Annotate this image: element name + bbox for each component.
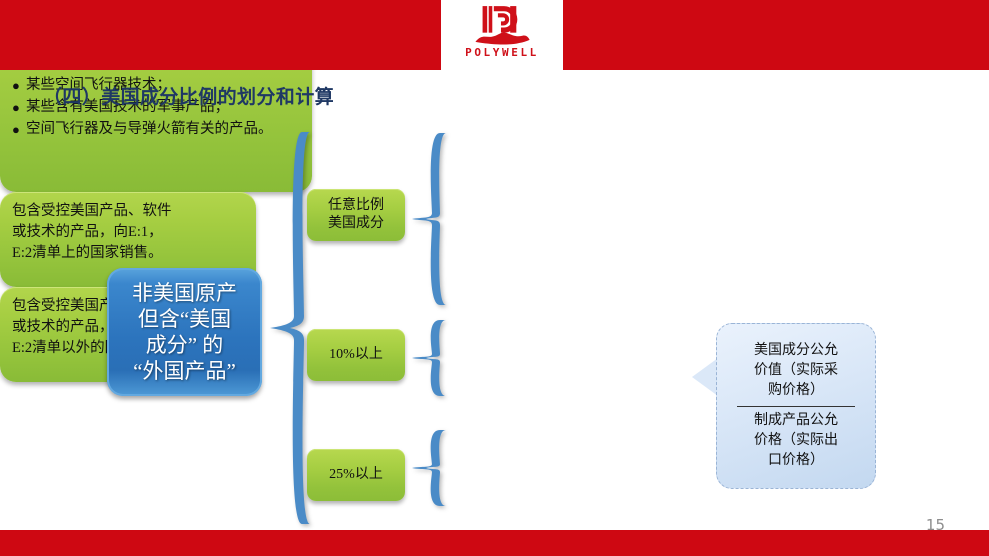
denominator-line-1: 制成产品公允 bbox=[754, 411, 838, 431]
branch-label-25-percent[interactable]: 25%以上 bbox=[307, 449, 405, 501]
bullet-text: 空间飞行器及与导弹火箭有关的产品。 bbox=[26, 119, 300, 140]
formula-callout[interactable]: 美国成分公允 价值（实际采 购价格） 制成产品公允 价格（实际出 口价格） bbox=[716, 323, 876, 489]
numerator-line-3: 购价格） bbox=[754, 381, 838, 401]
branch1-label-line-2: 美国成分 bbox=[328, 215, 384, 233]
callout-numerator: 美国成分公允 价值（实际采 购价格） bbox=[754, 341, 838, 404]
branch-label-any-ratio[interactable]: 任意比例 美国成分 bbox=[307, 189, 405, 241]
root-line-3: 成分” 的 bbox=[132, 332, 237, 358]
branch-2-brace bbox=[410, 320, 448, 396]
bullet-item: ● 空间飞行器及与导弹火箭有关的产品。 bbox=[12, 119, 300, 140]
bullet-dot-icon: ● bbox=[12, 97, 26, 118]
branch-3-brace bbox=[410, 430, 448, 506]
logo-wordmark: POLYWELL bbox=[465, 47, 539, 58]
branch-label-10-percent[interactable]: 10%以上 bbox=[307, 329, 405, 381]
root-line-1: 非美国原产 bbox=[132, 280, 237, 306]
branch2-text-line-1: 包含受控美国产品、软件 bbox=[12, 201, 244, 222]
bullet-dot-icon: ● bbox=[12, 75, 26, 96]
branch2-label-line-1: 10%以上 bbox=[329, 346, 383, 364]
polywell-logo-icon bbox=[471, 2, 533, 48]
logo-plate: POLYWELL bbox=[441, 0, 563, 70]
slide-canvas: POLYWELL （四）美国成分比例的划分和计算 非美国原产 但含“美国 成分”… bbox=[0, 0, 989, 556]
footer-red-band bbox=[0, 530, 989, 556]
page-title: （四）美国成分比例的划分和计算 bbox=[43, 82, 334, 109]
callout-pointer-icon bbox=[692, 358, 718, 396]
numerator-line-2: 价值（实际采 bbox=[754, 361, 838, 381]
branch2-text-line-2: 或技术的产品，向E:1， bbox=[12, 222, 244, 243]
numerator-line-1: 美国成分公允 bbox=[754, 341, 838, 361]
denominator-line-2: 价格（实际出 bbox=[754, 431, 838, 451]
branch2-text-line-3: E:2清单上的国家销售。 bbox=[12, 243, 244, 264]
bullet-dot-icon: ● bbox=[12, 119, 26, 140]
root-node[interactable]: 非美国原产 但含“美国 成分” 的 “外国产品” bbox=[107, 268, 262, 396]
callout-denominator: 制成产品公允 价格（实际出 口价格） bbox=[754, 411, 838, 471]
branch3-label-line-1: 25%以上 bbox=[329, 466, 383, 484]
branch-1-brace bbox=[410, 133, 448, 305]
branch1-label-line-1: 任意比例 bbox=[328, 197, 384, 215]
denominator-line-3: 口价格） bbox=[754, 451, 838, 471]
root-line-2: 但含“美国 bbox=[132, 306, 237, 332]
fraction-bar bbox=[737, 406, 855, 407]
root-line-4: “外国产品” bbox=[132, 358, 237, 384]
